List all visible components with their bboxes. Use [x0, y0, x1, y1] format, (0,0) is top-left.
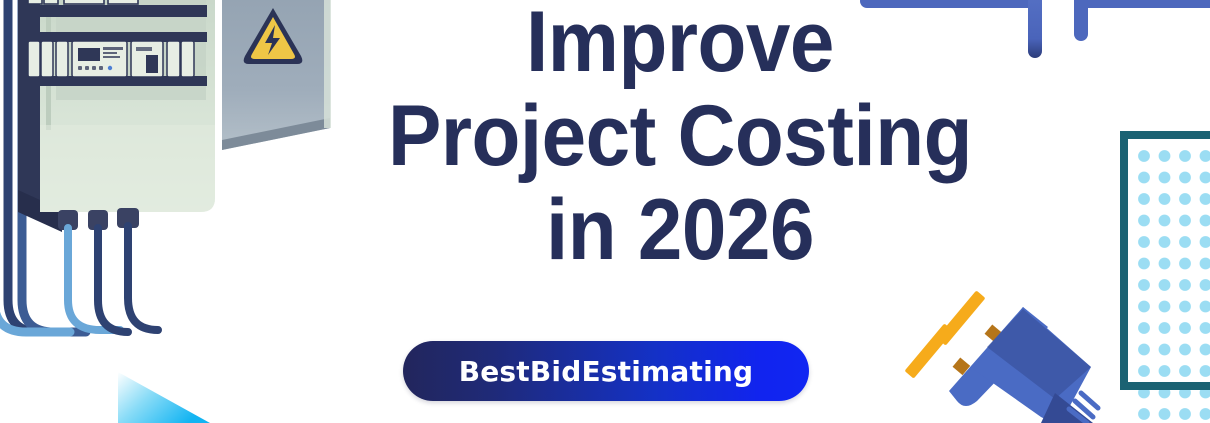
headline-line-2: Project Costing — [355, 90, 1006, 182]
breaker-rail-top — [22, 5, 207, 17]
headline-line-3: in 2026 — [355, 182, 1006, 278]
breaker-modules-main — [28, 41, 194, 77]
cyan-accent-triangle — [118, 372, 210, 423]
teal-frame-border — [1120, 131, 1210, 390]
power-plug-illustration — [915, 275, 1100, 423]
prong-left — [1028, 0, 1042, 58]
breaker-modules-top — [28, 0, 138, 4]
electrical-cabinet-illustration — [0, 0, 345, 423]
headline-line-1: Improve — [355, 0, 1006, 90]
prong-lower — [904, 323, 953, 378]
meter-display — [78, 48, 100, 61]
dot-grid-decoration — [1120, 131, 1210, 423]
socket-bar-right — [1074, 0, 1210, 8]
prong-right — [1074, 0, 1088, 41]
headline-block: Improve Project Costing in 2026 — [330, 0, 1030, 278]
brand-cta-button[interactable]: BestBidEstimating — [403, 341, 809, 401]
promo-banner: Improve Project Costing in 2026 BestBidE… — [0, 0, 1210, 423]
